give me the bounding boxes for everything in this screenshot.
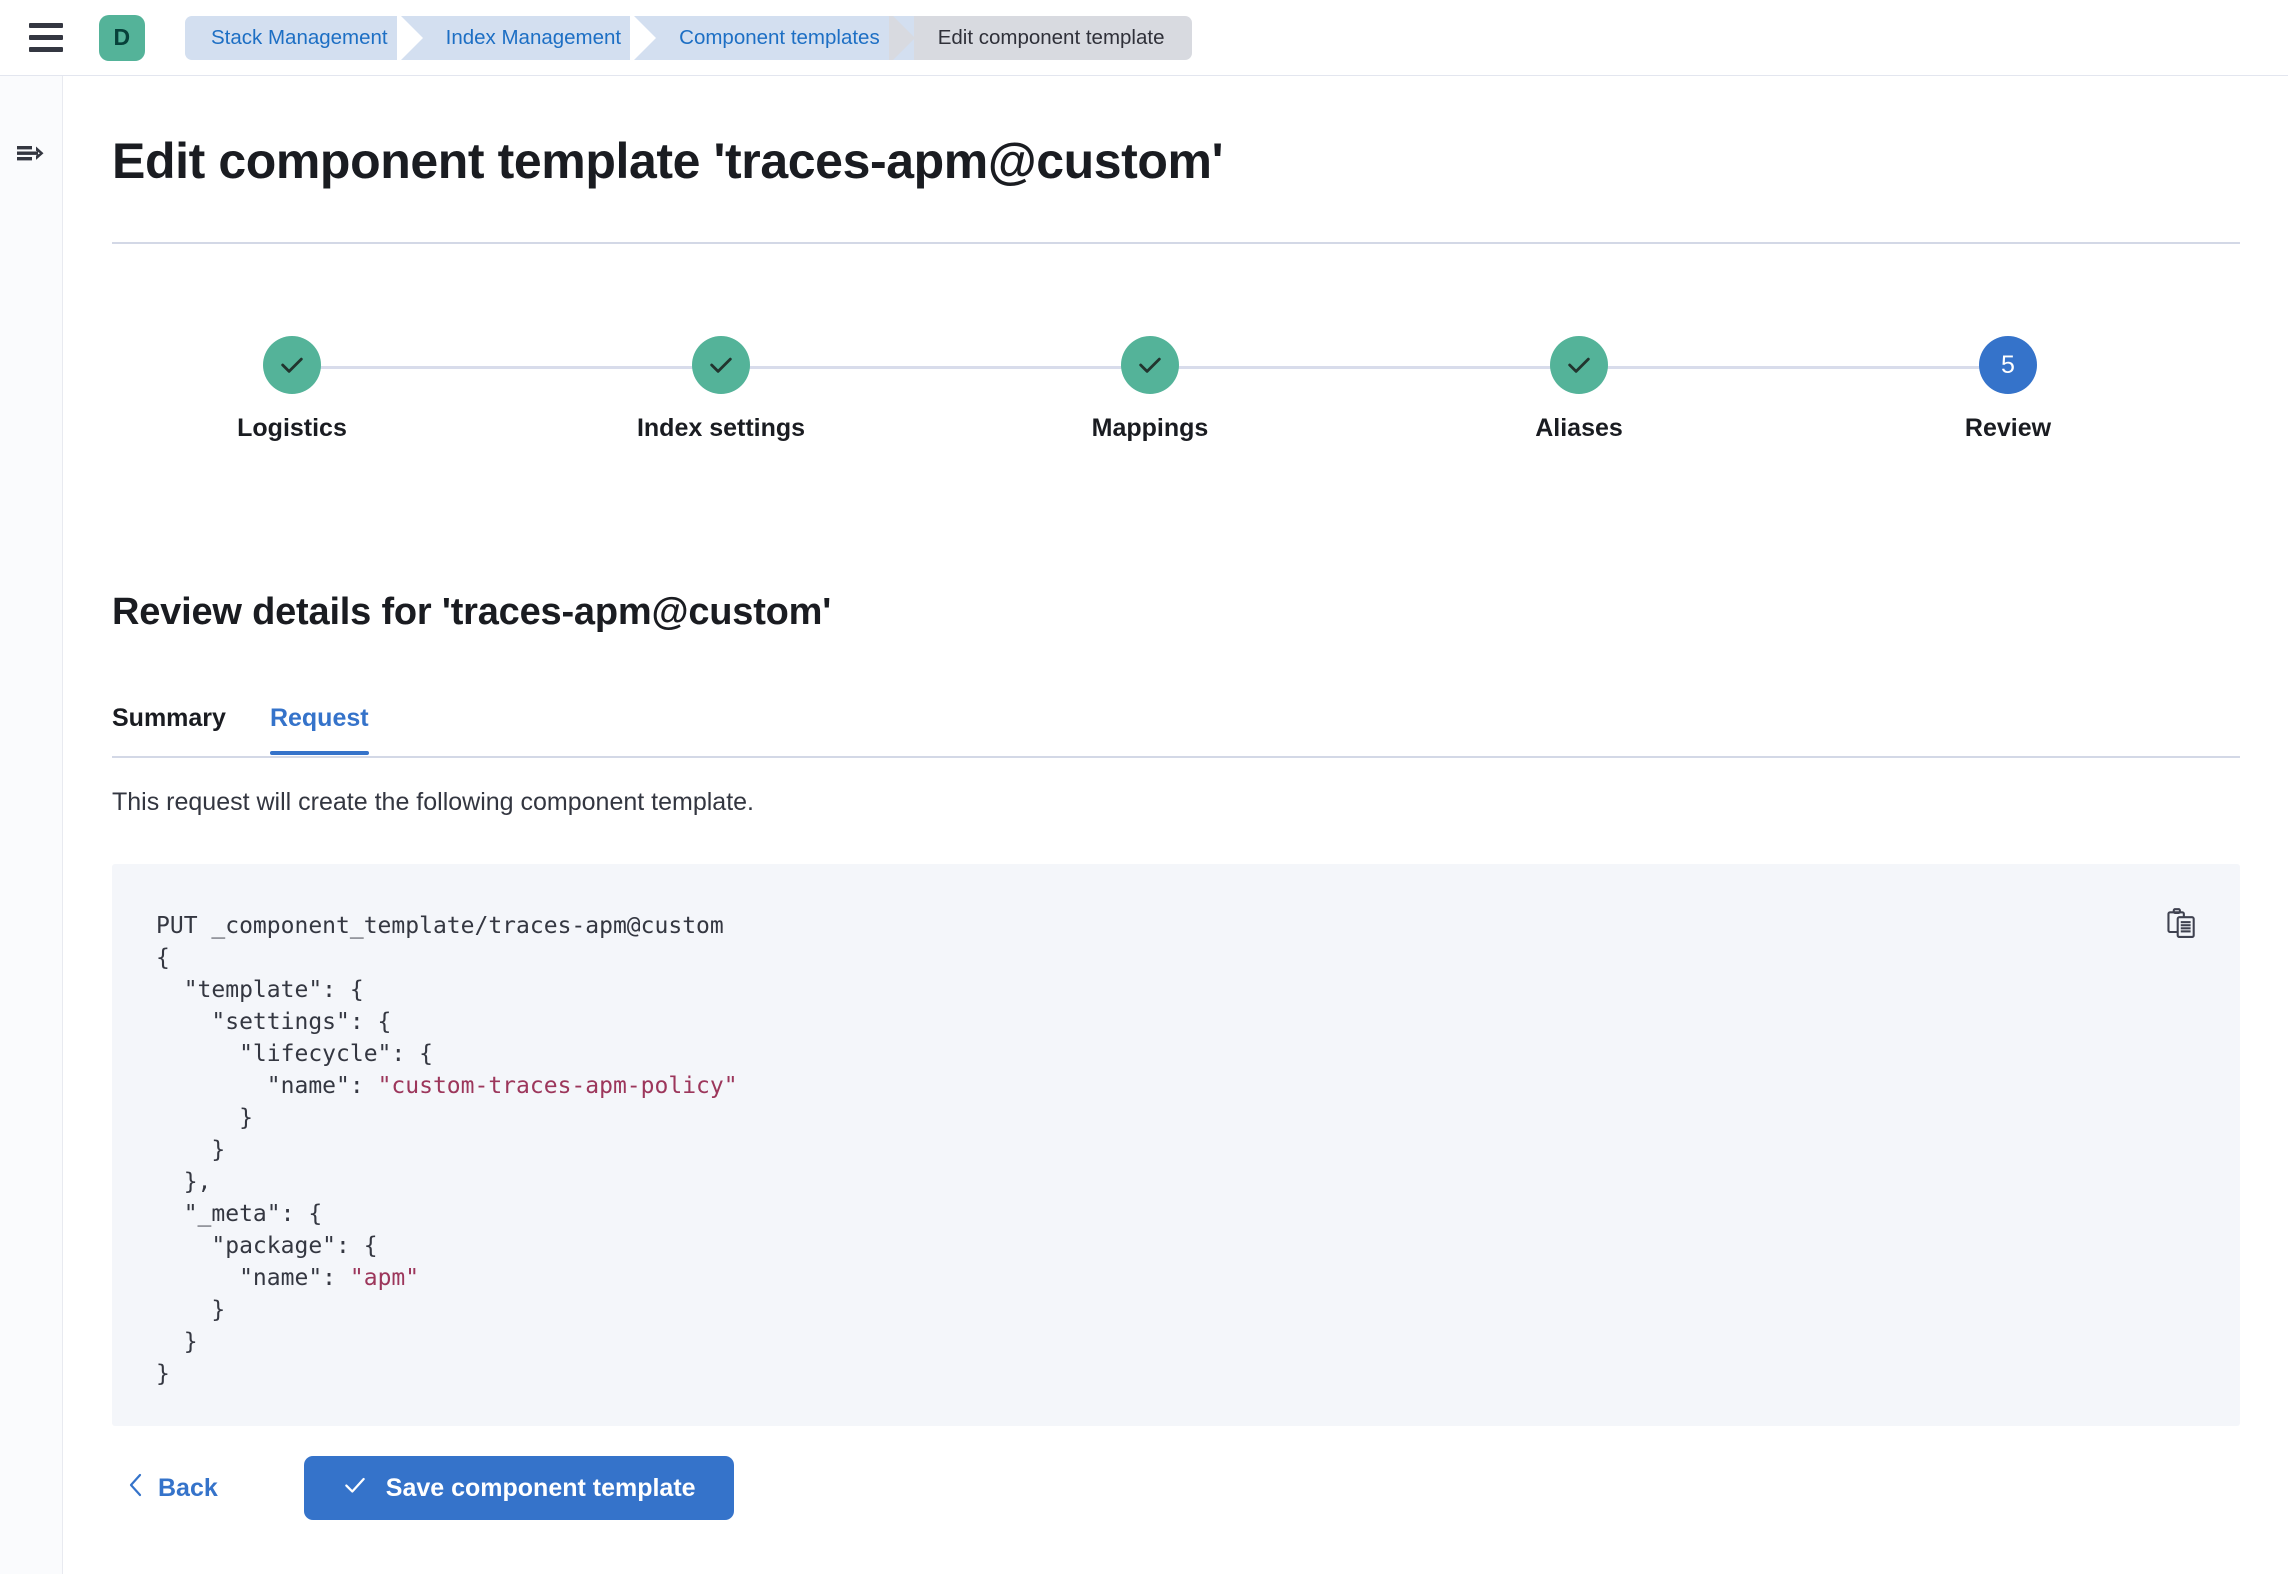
- code-line-key: "name":: [156, 1265, 350, 1291]
- review-section-title: Review details for 'traces-apm@custom': [112, 591, 831, 634]
- code-line: }: [156, 1361, 170, 1387]
- request-code-block: PUT _component_template/traces-apm@custo…: [112, 864, 2240, 1426]
- expand-panel-arrow-icon[interactable]: [12, 134, 50, 172]
- wizard-stepper: Logistics Index settings Mappings Aliase…: [112, 336, 2240, 466]
- stepper-label: Review: [1868, 414, 2148, 443]
- code-line: "lifecycle": {: [156, 1041, 433, 1067]
- back-button-label: Back: [158, 1474, 218, 1503]
- avatar[interactable]: D: [99, 15, 145, 61]
- code-line: "settings": {: [156, 1009, 391, 1035]
- hamburger-bar: [29, 47, 63, 52]
- step-number-label: 5: [2001, 351, 2015, 380]
- check-icon: [342, 1472, 368, 1505]
- request-description: This request will create the following c…: [112, 788, 754, 817]
- step-marker-check-icon[interactable]: [263, 336, 321, 394]
- code-line: }: [156, 1297, 225, 1323]
- review-tabs: Summary Request: [112, 694, 2240, 758]
- code-string-value: "custom-traces-apm-policy": [378, 1073, 738, 1099]
- code-line: "template": {: [156, 977, 364, 1003]
- hamburger-bar: [29, 23, 63, 28]
- step-marker-check-icon[interactable]: [692, 336, 750, 394]
- stepper-label: Logistics: [152, 414, 432, 443]
- tab-summary[interactable]: Summary: [112, 694, 226, 753]
- breadcrumb-item-edit-component-template: Edit component template: [914, 16, 1193, 60]
- page-title: Edit component template 'traces-apm@cust…: [112, 132, 1223, 190]
- main-content-area: Edit component template 'traces-apm@cust…: [64, 76, 2288, 1574]
- code-line: },: [156, 1169, 211, 1195]
- code-line: }: [156, 1137, 225, 1163]
- code-string-value: "apm": [350, 1265, 419, 1291]
- chevron-left-icon: [128, 1472, 144, 1505]
- breadcrumb-item-stack-management[interactable]: Stack Management: [185, 16, 422, 60]
- breadcrumb-item-index-management[interactable]: Index Management: [422, 16, 656, 60]
- hamburger-bar: [29, 35, 63, 40]
- code-line: "_meta": {: [156, 1201, 322, 1227]
- breadcrumb: Stack Management Index Management Compon…: [185, 16, 1192, 60]
- tab-request[interactable]: Request: [270, 694, 369, 753]
- breadcrumb-chevron-icon: [397, 16, 423, 60]
- breadcrumb-chevron-icon: [889, 16, 915, 60]
- copy-clipboard-icon[interactable]: [2160, 902, 2204, 946]
- stepper-step-review[interactable]: 5 Review: [1868, 336, 2148, 443]
- left-side-rail: [0, 76, 63, 1574]
- stepper-step-aliases[interactable]: Aliases: [1439, 336, 1719, 443]
- breadcrumb-item-component-templates[interactable]: Component templates: [655, 16, 914, 60]
- code-line-key: "name":: [156, 1073, 378, 1099]
- breadcrumb-label: Stack Management: [211, 26, 388, 50]
- breadcrumb-chevron-icon: [630, 16, 656, 60]
- hamburger-menu-icon[interactable]: [29, 23, 63, 53]
- breadcrumb-label: Index Management: [446, 26, 622, 50]
- breadcrumb-label: Edit component template: [938, 26, 1165, 50]
- save-button-label: Save component template: [386, 1474, 696, 1503]
- back-button[interactable]: Back: [112, 1460, 236, 1517]
- title-divider: [112, 242, 2240, 244]
- request-code-text: PUT _component_template/traces-apm@custo…: [156, 910, 738, 1390]
- code-line: {: [156, 945, 170, 971]
- code-line: PUT _component_template/traces-apm@custo…: [156, 913, 724, 939]
- wizard-footer-actions: Back Save component template: [112, 1456, 734, 1520]
- code-line: }: [156, 1329, 198, 1355]
- top-navigation-bar: D Stack Management Index Management Comp…: [0, 0, 2288, 76]
- code-line: "package": {: [156, 1233, 378, 1259]
- stepper-label: Index settings: [581, 414, 861, 443]
- stepper-label: Mappings: [1010, 414, 1290, 443]
- step-marker-check-icon[interactable]: [1121, 336, 1179, 394]
- save-component-template-button[interactable]: Save component template: [304, 1456, 734, 1520]
- stepper-label: Aliases: [1439, 414, 1719, 443]
- stepper-step-mappings[interactable]: Mappings: [1010, 336, 1290, 443]
- stepper-step-logistics[interactable]: Logistics: [152, 336, 432, 443]
- stepper-step-index-settings[interactable]: Index settings: [581, 336, 861, 443]
- step-marker-number[interactable]: 5: [1979, 336, 2037, 394]
- step-marker-check-icon[interactable]: [1550, 336, 1608, 394]
- breadcrumb-label: Component templates: [679, 26, 880, 50]
- code-line: }: [156, 1105, 253, 1131]
